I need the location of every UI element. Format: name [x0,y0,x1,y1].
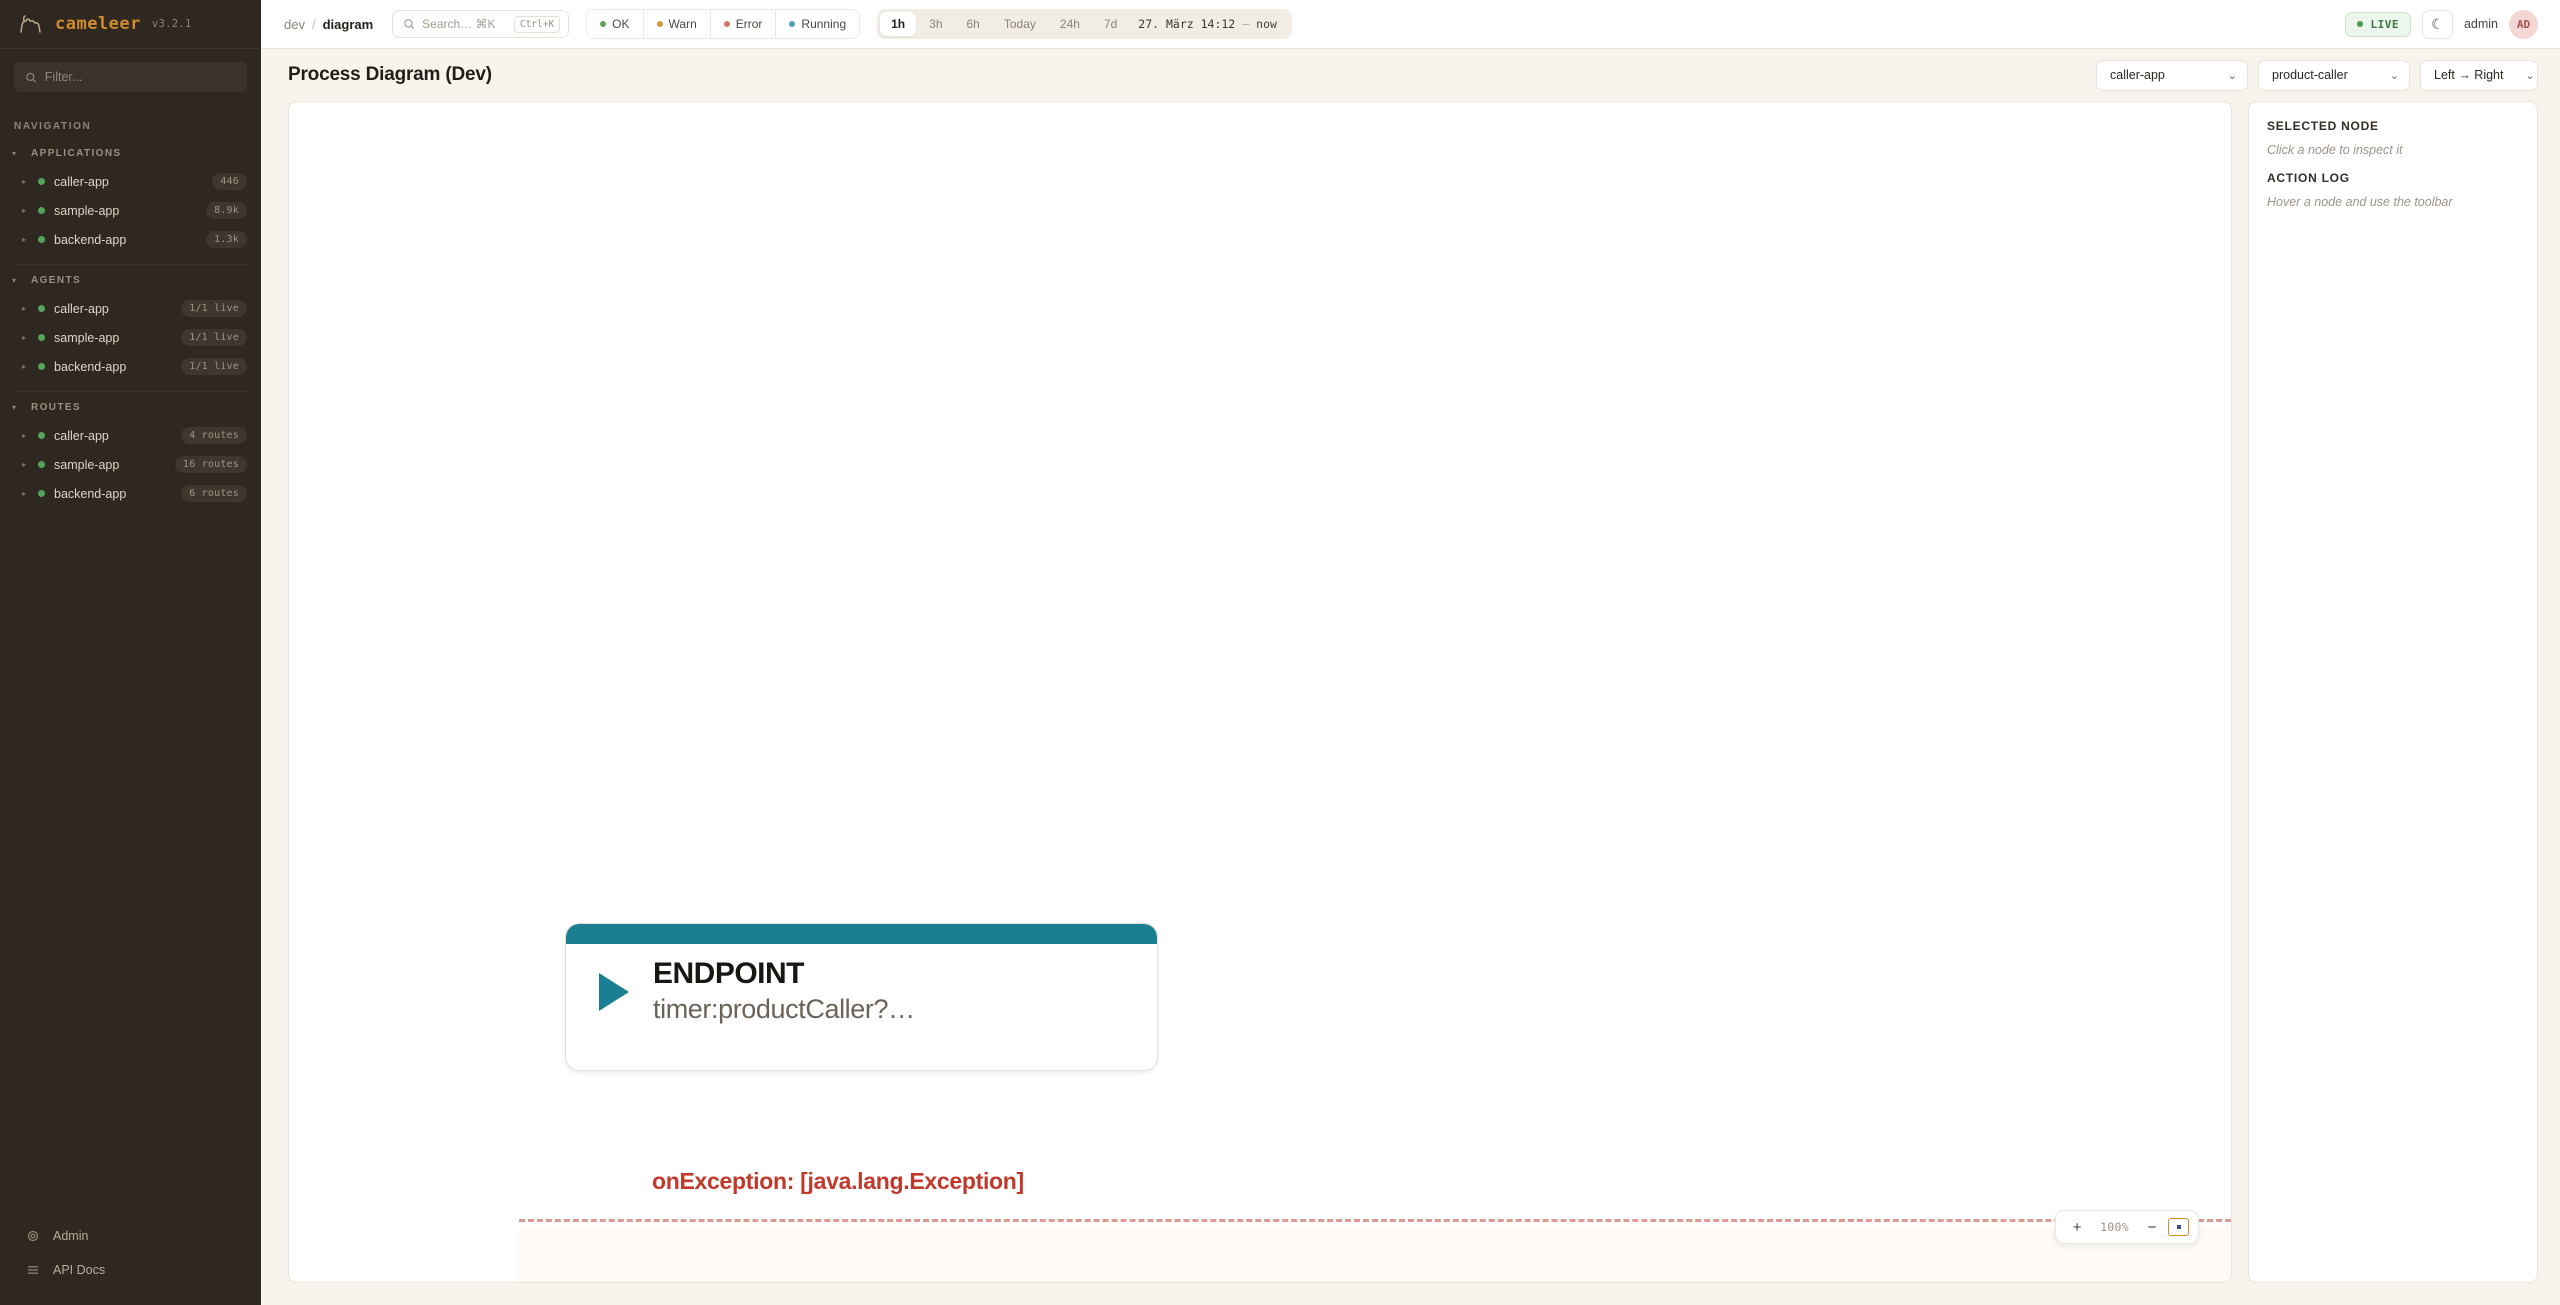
nav-group-agents[interactable]: ▾ AGENTS [0,269,261,292]
sidebar-filter-wrap [0,49,261,102]
page-title: Process Diagram (Dev) [288,64,492,86]
sidebar-filter-input[interactable] [45,70,236,84]
sidebar-item-applications-caller-app[interactable]: ▸ caller-app 446 [0,167,261,196]
sidebar-item-label: caller-app [54,429,109,443]
chevron-right-icon: ▸ [22,431,29,440]
breadcrumb: dev / diagram [284,17,373,32]
status-dot [38,207,45,214]
selected-node-hint: Click a node to inspect it [2267,143,2519,157]
action-log-hint: Hover a node and use the toolbar [2267,195,2519,209]
zoom-in-button[interactable]: + [2065,1216,2089,1238]
nav-group-label: AGENTS [31,275,81,286]
sidebar-item-label: backend-app [54,360,126,374]
nav-section-title: NAVIGATION [0,113,261,142]
main-area: dev / diagram Search… ⌘K Ctrl+K OK Warn [261,0,2560,1305]
sidebar-item-label: backend-app [54,487,126,501]
status-dot [657,21,663,27]
node-uri: timer:productCaller?… [653,993,915,1025]
breadcrumb-separator: / [312,17,316,32]
search-icon [25,71,37,84]
direction-select[interactable]: Left → Right ⌄ [2420,60,2538,91]
live-label: LIVE [2370,18,2399,31]
diagram-canvas[interactable]: ENDPOINT timer:productCaller?… onExcepti… [288,101,2232,1283]
status-dot [789,21,795,27]
time-range-display[interactable]: 27. März 14:12 — now [1130,17,1289,31]
status-dot [38,334,45,341]
selected-node-title: SELECTED NODE [2267,119,2519,133]
route-select-value: product-caller [2272,68,2348,82]
zoom-level: 100% [2093,1220,2136,1234]
app-root: cameleer v3.2.1 NAVIGATION ▾ APPLICATION… [0,0,2560,1305]
sidebar-item-badge: 6 routes [181,485,247,502]
status-filter-running[interactable]: Running [776,10,859,38]
status-filter-group: OK Warn Error Running [586,9,860,39]
chevron-right-icon: ▸ [22,333,29,342]
status-filter-error[interactable]: Error [711,10,777,38]
exception-divider [519,1219,2231,1222]
inspector-panel: SELECTED NODE Click a node to inspect it… [2248,101,2538,1283]
chevron-down-icon: ⌄ [2525,69,2534,82]
topbar: dev / diagram Search… ⌘K Ctrl+K OK Warn [261,0,2560,49]
nav-group-label: APPLICATIONS [31,148,122,159]
status-filter-label: Error [736,17,763,31]
status-dot [38,461,45,468]
search-box[interactable]: Search… ⌘K Ctrl+K [392,10,569,38]
application-select[interactable]: caller-app ⌄ [2096,60,2248,91]
sidebar-item-label: sample-app [54,331,119,345]
sidebar-item-badge: 446 [212,173,247,190]
time-button-1h[interactable]: 1h [880,12,916,36]
status-dot [38,236,45,243]
status-dot [38,178,45,185]
sidebar-item-routes-sample-app[interactable]: ▸ sample-app 16 routes [0,450,261,479]
sidebar-item-badge: 1.3k [206,231,247,248]
time-button-7d[interactable]: 7d [1093,12,1128,36]
time-button-6h[interactable]: 6h [956,12,991,36]
sidebar-item-applications-backend-app[interactable]: ▸ backend-app 1.3k [0,225,261,254]
status-dot [38,363,45,370]
sidebar-item-badge: 1/1 live [181,358,247,375]
sidebar-item-admin[interactable]: Admin [0,1219,261,1253]
search-icon [403,18,415,30]
sidebar-item-label: sample-app [54,458,119,472]
status-dot [600,21,606,27]
sidebar-filter-box[interactable] [14,62,247,92]
chevron-down-icon: ▾ [12,277,20,285]
status-filter-ok[interactable]: OK [587,10,643,38]
live-badge[interactable]: LIVE [2345,12,2411,37]
sidebar-item-label: caller-app [54,175,109,189]
sidebar-item-agents-caller-app[interactable]: ▸ caller-app 1/1 live [0,294,261,323]
status-dot [38,432,45,439]
sidebar-item-applications-sample-app[interactable]: ▸ sample-app 8.9k [0,196,261,225]
sidebar-item-routes-caller-app[interactable]: ▸ caller-app 4 routes [0,421,261,450]
moon-icon: ☾ [2431,16,2444,33]
node-texts: ENDPOINT timer:productCaller?… [653,958,915,1026]
node-body: ENDPOINT timer:productCaller?… [566,944,1157,1026]
time-button-24h[interactable]: 24h [1049,12,1091,36]
divider [14,264,247,265]
exception-region [517,1226,2231,1282]
time-button-today[interactable]: Today [993,12,1047,36]
nav-group-routes[interactable]: ▾ ROUTES [0,396,261,419]
breadcrumb-root[interactable]: dev [284,17,305,32]
sidebar: cameleer v3.2.1 NAVIGATION ▾ APPLICATION… [0,0,261,1305]
diagram-canvas-inner: ENDPOINT timer:productCaller?… onExcepti… [289,102,2231,1282]
search-shortcut: Ctrl+K [514,16,560,33]
status-dot [2357,21,2363,27]
route-select[interactable]: product-caller ⌄ [2258,60,2410,91]
status-dot [38,305,45,312]
time-range-dash: — [1242,17,1249,31]
topbar-right: LIVE ☾ admin AD [2345,10,2538,39]
chevron-down-icon: ▾ [12,150,20,158]
chevron-right-icon: ▸ [22,362,29,371]
time-range-from: 27. März 14:12 [1138,17,1235,31]
chevron-right-icon: ▸ [22,304,29,313]
exception-label: onException: [java.lang.Exception] [652,1168,1024,1195]
status-filter-label: OK [612,17,629,31]
sidebar-footer-label: Admin [53,1229,88,1243]
brand-name: cameleer [55,14,141,34]
chevron-down-icon: ⌄ [2390,69,2399,82]
sidebar-item-badge: 1/1 live [181,300,247,317]
node-accent-bar [566,924,1157,944]
action-log-title: ACTION LOG [2267,171,2519,185]
play-icon [599,973,629,1011]
content-area: ENDPOINT timer:productCaller?… onExcepti… [261,101,2560,1305]
chevron-right-icon: ▸ [22,489,29,498]
chevron-down-icon: ▾ [12,404,20,412]
menu-icon [26,1263,40,1277]
zoom-controls: + 100% − [2055,1210,2199,1244]
breadcrumb-current: diagram [323,17,374,32]
sidebar-item-agents-sample-app[interactable]: ▸ sample-app 1/1 live [0,323,261,352]
search-placeholder: Search… ⌘K [422,17,495,31]
sidebar-item-label: sample-app [54,204,119,218]
sidebar-footer: Admin API Docs [0,1219,261,1305]
status-dot [724,21,730,27]
sidebar-item-badge: 1/1 live [181,329,247,346]
diagram-controls: caller-app ⌄ product-caller ⌄ Left → Rig… [2096,60,2538,91]
user-name: admin [2464,17,2498,31]
sidebar-footer-label: API Docs [53,1263,105,1277]
application-select-value: caller-app [2110,68,2165,82]
diagram-node-endpoint[interactable]: ENDPOINT timer:productCaller?… [565,923,1158,1071]
sidebar-item-label: caller-app [54,302,109,316]
sidebar-item-api-docs[interactable]: API Docs [0,1253,261,1287]
nav-group-applications[interactable]: ▾ APPLICATIONS [0,142,261,165]
sidebar-item-badge: 4 routes [181,427,247,444]
sidebar-item-agents-backend-app[interactable]: ▸ backend-app 1/1 live [0,352,261,381]
sidebar-item-label: backend-app [54,233,126,247]
gear-icon [26,1229,40,1243]
zoom-out-button[interactable]: − [2140,1216,2164,1238]
avatar[interactable]: AD [2509,10,2538,39]
direction-select-value: Left → Right [2434,68,2503,82]
time-range-to: now [1256,17,1277,31]
chevron-right-icon: ▸ [22,235,29,244]
sidebar-nav: NAVIGATION ▾ APPLICATIONS ▸ caller-app 4… [0,102,261,1219]
status-filter-label: Warn [669,17,697,31]
status-dot [38,490,45,497]
nav-group-label: ROUTES [31,402,81,413]
chevron-down-icon: ⌄ [2228,69,2237,82]
fit-view-icon[interactable] [2168,1218,2189,1236]
node-kind: ENDPOINT [653,958,915,990]
page-header: Process Diagram (Dev) caller-app ⌄ produ… [261,49,2560,101]
chevron-right-icon: ▸ [22,177,29,186]
chevron-right-icon: ▸ [22,206,29,215]
sidebar-item-badge: 8.9k [206,202,247,219]
status-filter-label: Running [801,17,846,31]
chevron-right-icon: ▸ [22,460,29,469]
time-range-group: 1h 3h 6h Today 24h 7d 27. März 14:12 — n… [877,9,1292,39]
sidebar-item-routes-backend-app[interactable]: ▸ backend-app 6 routes [0,479,261,508]
camel-icon [18,12,44,36]
time-button-3h[interactable]: 3h [918,12,953,36]
sidebar-item-badge: 16 routes [175,456,247,473]
brand[interactable]: cameleer v3.2.1 [0,0,261,49]
divider [14,391,247,392]
theme-toggle-button[interactable]: ☾ [2422,10,2453,39]
brand-version: v3.2.1 [152,18,192,30]
status-filter-warn[interactable]: Warn [644,10,711,38]
